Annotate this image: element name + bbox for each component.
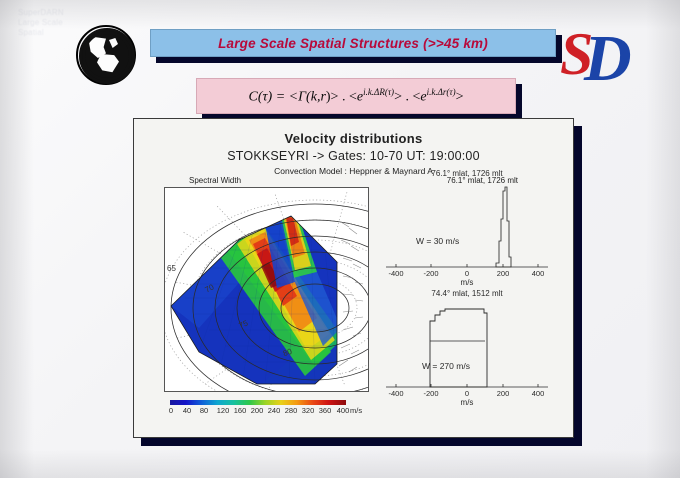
equation-lhs: C(τ) = <Γ( xyxy=(249,89,311,104)
hist-bottom-tick-0: 0 xyxy=(465,389,469,398)
figure-subtitle: STOKKSEYRI -> Gates: 10-70 UT: 19:00:00 xyxy=(134,149,573,163)
histogram-bottom-annotation: W = 270 m/s xyxy=(422,361,470,371)
colorbar-ticks: 0 40 80 120 160 200 240 280 320 360 400 xyxy=(166,406,381,418)
globe-logo xyxy=(76,25,138,87)
equation-exponent-two: i.k.Δr(τ) xyxy=(427,87,456,97)
hist-top-tick-400: 400 xyxy=(532,269,545,278)
colorbar-tick-360: 360 xyxy=(319,406,332,415)
hist-top-tick-0: 0 xyxy=(465,269,469,278)
histogram-bottom-title: 74.4° mlat, 1512 mlt xyxy=(382,289,552,298)
hist-bottom-tick-200: 200 xyxy=(497,389,510,398)
hist-bottom-tick-400: 400 xyxy=(532,389,545,398)
hist-bottom-tick--200: -200 xyxy=(423,389,438,398)
title-banner-face: Large Scale Spatial Structures (>>45 km) xyxy=(150,29,556,57)
hist-bottom-tick--400: -400 xyxy=(388,389,403,398)
globe-continent-two xyxy=(97,54,119,73)
colorbar-gradient xyxy=(170,400,346,405)
figure-title: Velocity distributions xyxy=(134,131,573,146)
colorbar-tick-200: 200 xyxy=(251,406,264,415)
colorbar-tick-280: 280 xyxy=(285,406,298,415)
colorbar-unit-label: m/s xyxy=(350,406,362,415)
spectral-width-fan-map: 65 70 75 80 xyxy=(164,187,369,392)
histogram-bottom-xlabel: m/s xyxy=(382,398,552,407)
histogram-top-title: 76.1° mlat, 1726 mlt xyxy=(382,169,552,178)
colorbar: 0 40 80 120 160 200 240 280 320 360 400 … xyxy=(166,400,381,422)
equation-banner: C(τ) = <Γ(k,r)> . <ei.k.ΔR(τ)> . <ei.k.Δ… xyxy=(196,78,516,114)
fan-map-svg xyxy=(165,188,368,391)
superdarn-sd-logo: D S xyxy=(558,22,650,92)
velocity-histogram-bottom: 74.4° mlat, 1512 mlt xyxy=(382,301,552,406)
globe-continent-three xyxy=(109,38,118,48)
hist-top-tick--400: -400 xyxy=(388,269,403,278)
hist-top-tick--200: -200 xyxy=(423,269,438,278)
equation-close-three: > xyxy=(456,89,464,104)
hist-top-tick-200: 200 xyxy=(497,269,510,278)
colorbar-tick-160: 160 xyxy=(234,406,247,415)
figure-left-caption: Spectral Width xyxy=(189,176,241,185)
velocity-histogram-top: 76.1° mlat, 1726 mlt -400 xyxy=(382,181,552,286)
colorbar-tick-320: 320 xyxy=(302,406,315,415)
slide-canvas: SuperDARN Large Scale Spatial D S Large … xyxy=(0,0,680,478)
equation-exponent-one: i.k.ΔR(τ) xyxy=(363,87,394,97)
colorbar-tick-240: 240 xyxy=(268,406,281,415)
lat-label-65: 65 xyxy=(167,264,176,273)
title-banner-label: Large Scale Spatial Structures (>>45 km) xyxy=(218,36,488,51)
sd-logo-s: S xyxy=(560,24,593,84)
equation-close-one: )> . < xyxy=(326,89,357,104)
colorbar-tick-0: 0 xyxy=(169,406,173,415)
histogram-top-annotation: W = 30 m/s xyxy=(416,236,459,246)
colorbar-tick-40: 40 xyxy=(183,406,191,415)
equation-text: C(τ) = <Γ(k,r)> . <ei.k.ΔR(τ)> . <ei.k.Δ… xyxy=(249,87,464,106)
histogram-top-xlabel: m/s xyxy=(382,278,552,287)
title-banner: Large Scale Spatial Structures (>>45 km) xyxy=(150,29,556,57)
colorbar-tick-120: 120 xyxy=(217,406,230,415)
figure-panel-wrapper: Velocity distributions STOKKSEYRI -> Gat… xyxy=(133,118,574,438)
equation-close-two: > . < xyxy=(394,89,420,104)
equation-banner-face: C(τ) = <Γ(k,r)> . <ei.k.ΔR(τ)> . <ei.k.Δ… xyxy=(196,78,516,114)
histogram-bottom-svg xyxy=(382,301,552,393)
globe-disc xyxy=(85,34,129,78)
histogram-top-svg xyxy=(382,181,552,273)
figure-panel: Velocity distributions STOKKSEYRI -> Gat… xyxy=(133,118,574,438)
colorbar-tick-400: 400 xyxy=(337,406,350,415)
colorbar-tick-80: 80 xyxy=(200,406,208,415)
